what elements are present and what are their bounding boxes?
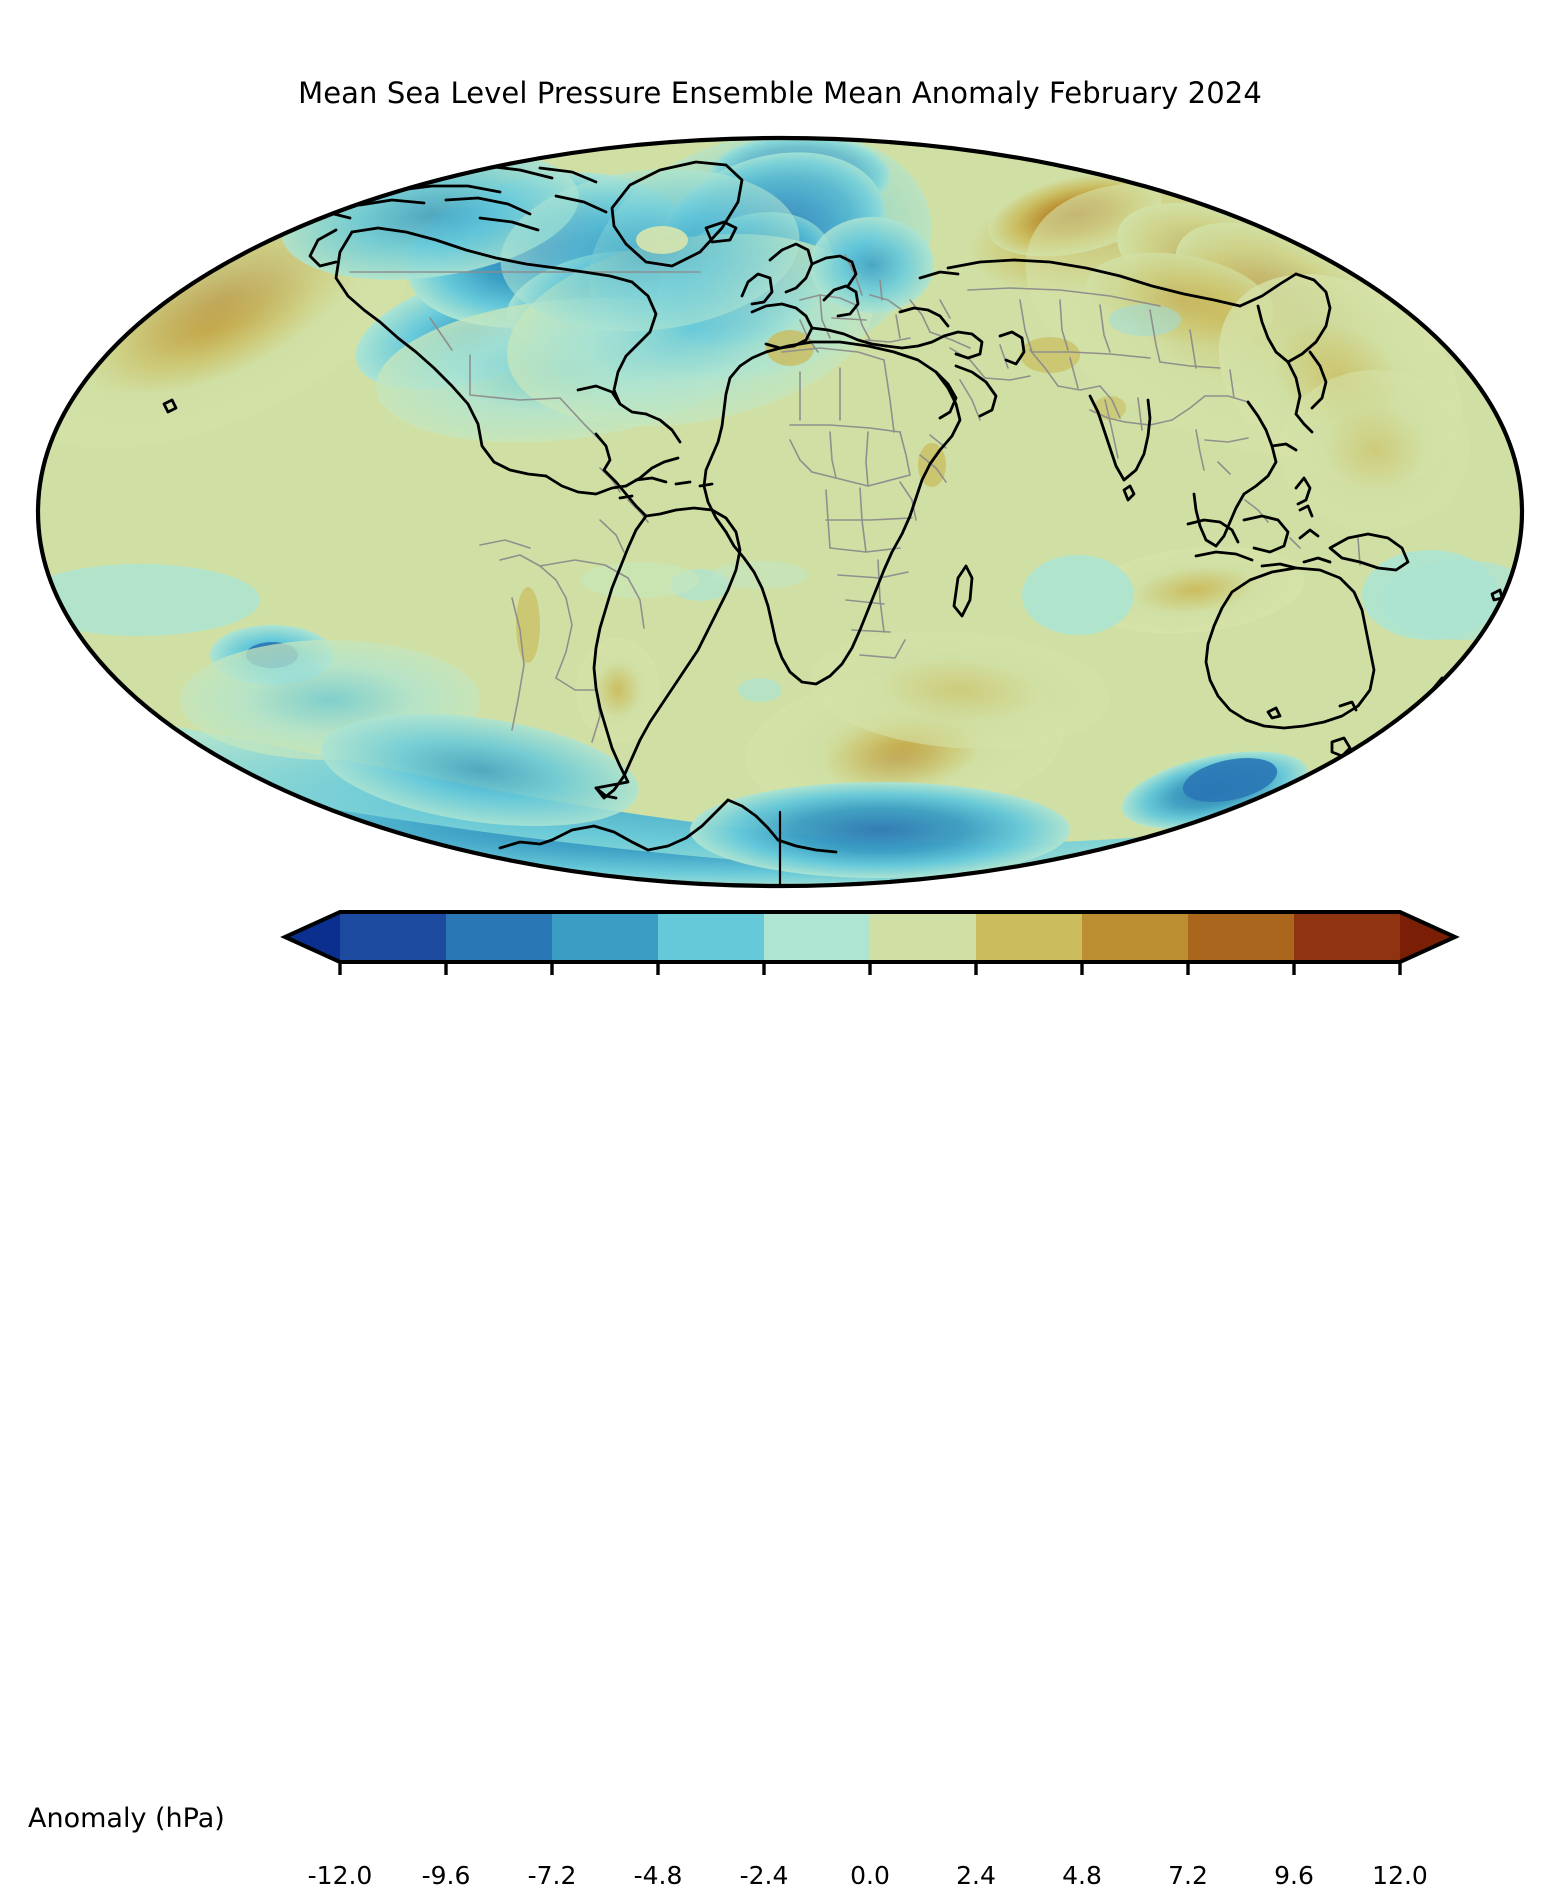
field-tasman-mint	[1380, 560, 1540, 640]
colorbar-band[interactable]	[1188, 912, 1295, 962]
field-greenland-neutral-spot	[636, 226, 688, 254]
colorbar-tick-label: -4.8	[634, 1861, 683, 1890]
field-andes-positive-spot	[516, 587, 540, 663]
colorbar-band[interactable]	[870, 912, 977, 962]
colorbar-bands[interactable]	[285, 912, 1455, 962]
colorbar-axis-label: Anomaly (hPa)	[28, 1802, 278, 1836]
colorbar-extend-under	[285, 912, 340, 962]
colorbar-tick-label: 12.0	[1372, 1861, 1428, 1890]
field-south-pacific-mint	[20, 564, 260, 636]
colorbar-band[interactable]	[976, 912, 1083, 962]
field-baltic-negative	[810, 217, 934, 313]
colorbar-tick-label: -2.4	[740, 1861, 789, 1890]
field-antarctic-coast-low	[690, 782, 1070, 878]
colorbar-band[interactable]	[1082, 912, 1189, 962]
colorbar-band[interactable]	[446, 912, 553, 962]
field-equator-hint-a	[580, 562, 700, 598]
colorbar-tick-label: -7.2	[528, 1861, 577, 1890]
colorbar-band[interactable]	[1294, 912, 1401, 962]
colorbar-band[interactable]	[658, 912, 765, 962]
mollweide-map	[0, 0, 1560, 890]
field-south-atlantic-spot	[738, 678, 782, 702]
colorbar-tick-label: -9.6	[422, 1861, 471, 1890]
colorbar-band[interactable]	[552, 912, 659, 962]
colorbar-tick-label: -12.0	[308, 1861, 373, 1890]
figure-canvas: Mean Sea Level Pressure Ensemble Mean An…	[0, 0, 1560, 1031]
colorbar-tick-label: 9.6	[1274, 1861, 1314, 1890]
field-central-asia-negative-spot	[1109, 304, 1181, 336]
colorbar-band[interactable]	[340, 912, 447, 962]
field-indian-ocean-negative-spot	[1022, 555, 1134, 635]
colorbar-panel: Anomaly (hPa) -12.0-9.6-7.2-4.8-2.40.02.…	[0, 890, 1560, 1031]
colorbar-tick-label: 0.0	[850, 1861, 890, 1890]
colorbar-band[interactable]	[764, 912, 871, 962]
colorbar-tick-label: 7.2	[1168, 1861, 1208, 1890]
map-panel	[0, 0, 1560, 890]
colorbar-tick-label: 4.8	[1062, 1861, 1102, 1890]
colorbar-extend-over	[1400, 912, 1455, 962]
colorbar[interactable]	[0, 890, 1560, 1031]
colorbar-tick-label: 2.4	[956, 1861, 996, 1890]
